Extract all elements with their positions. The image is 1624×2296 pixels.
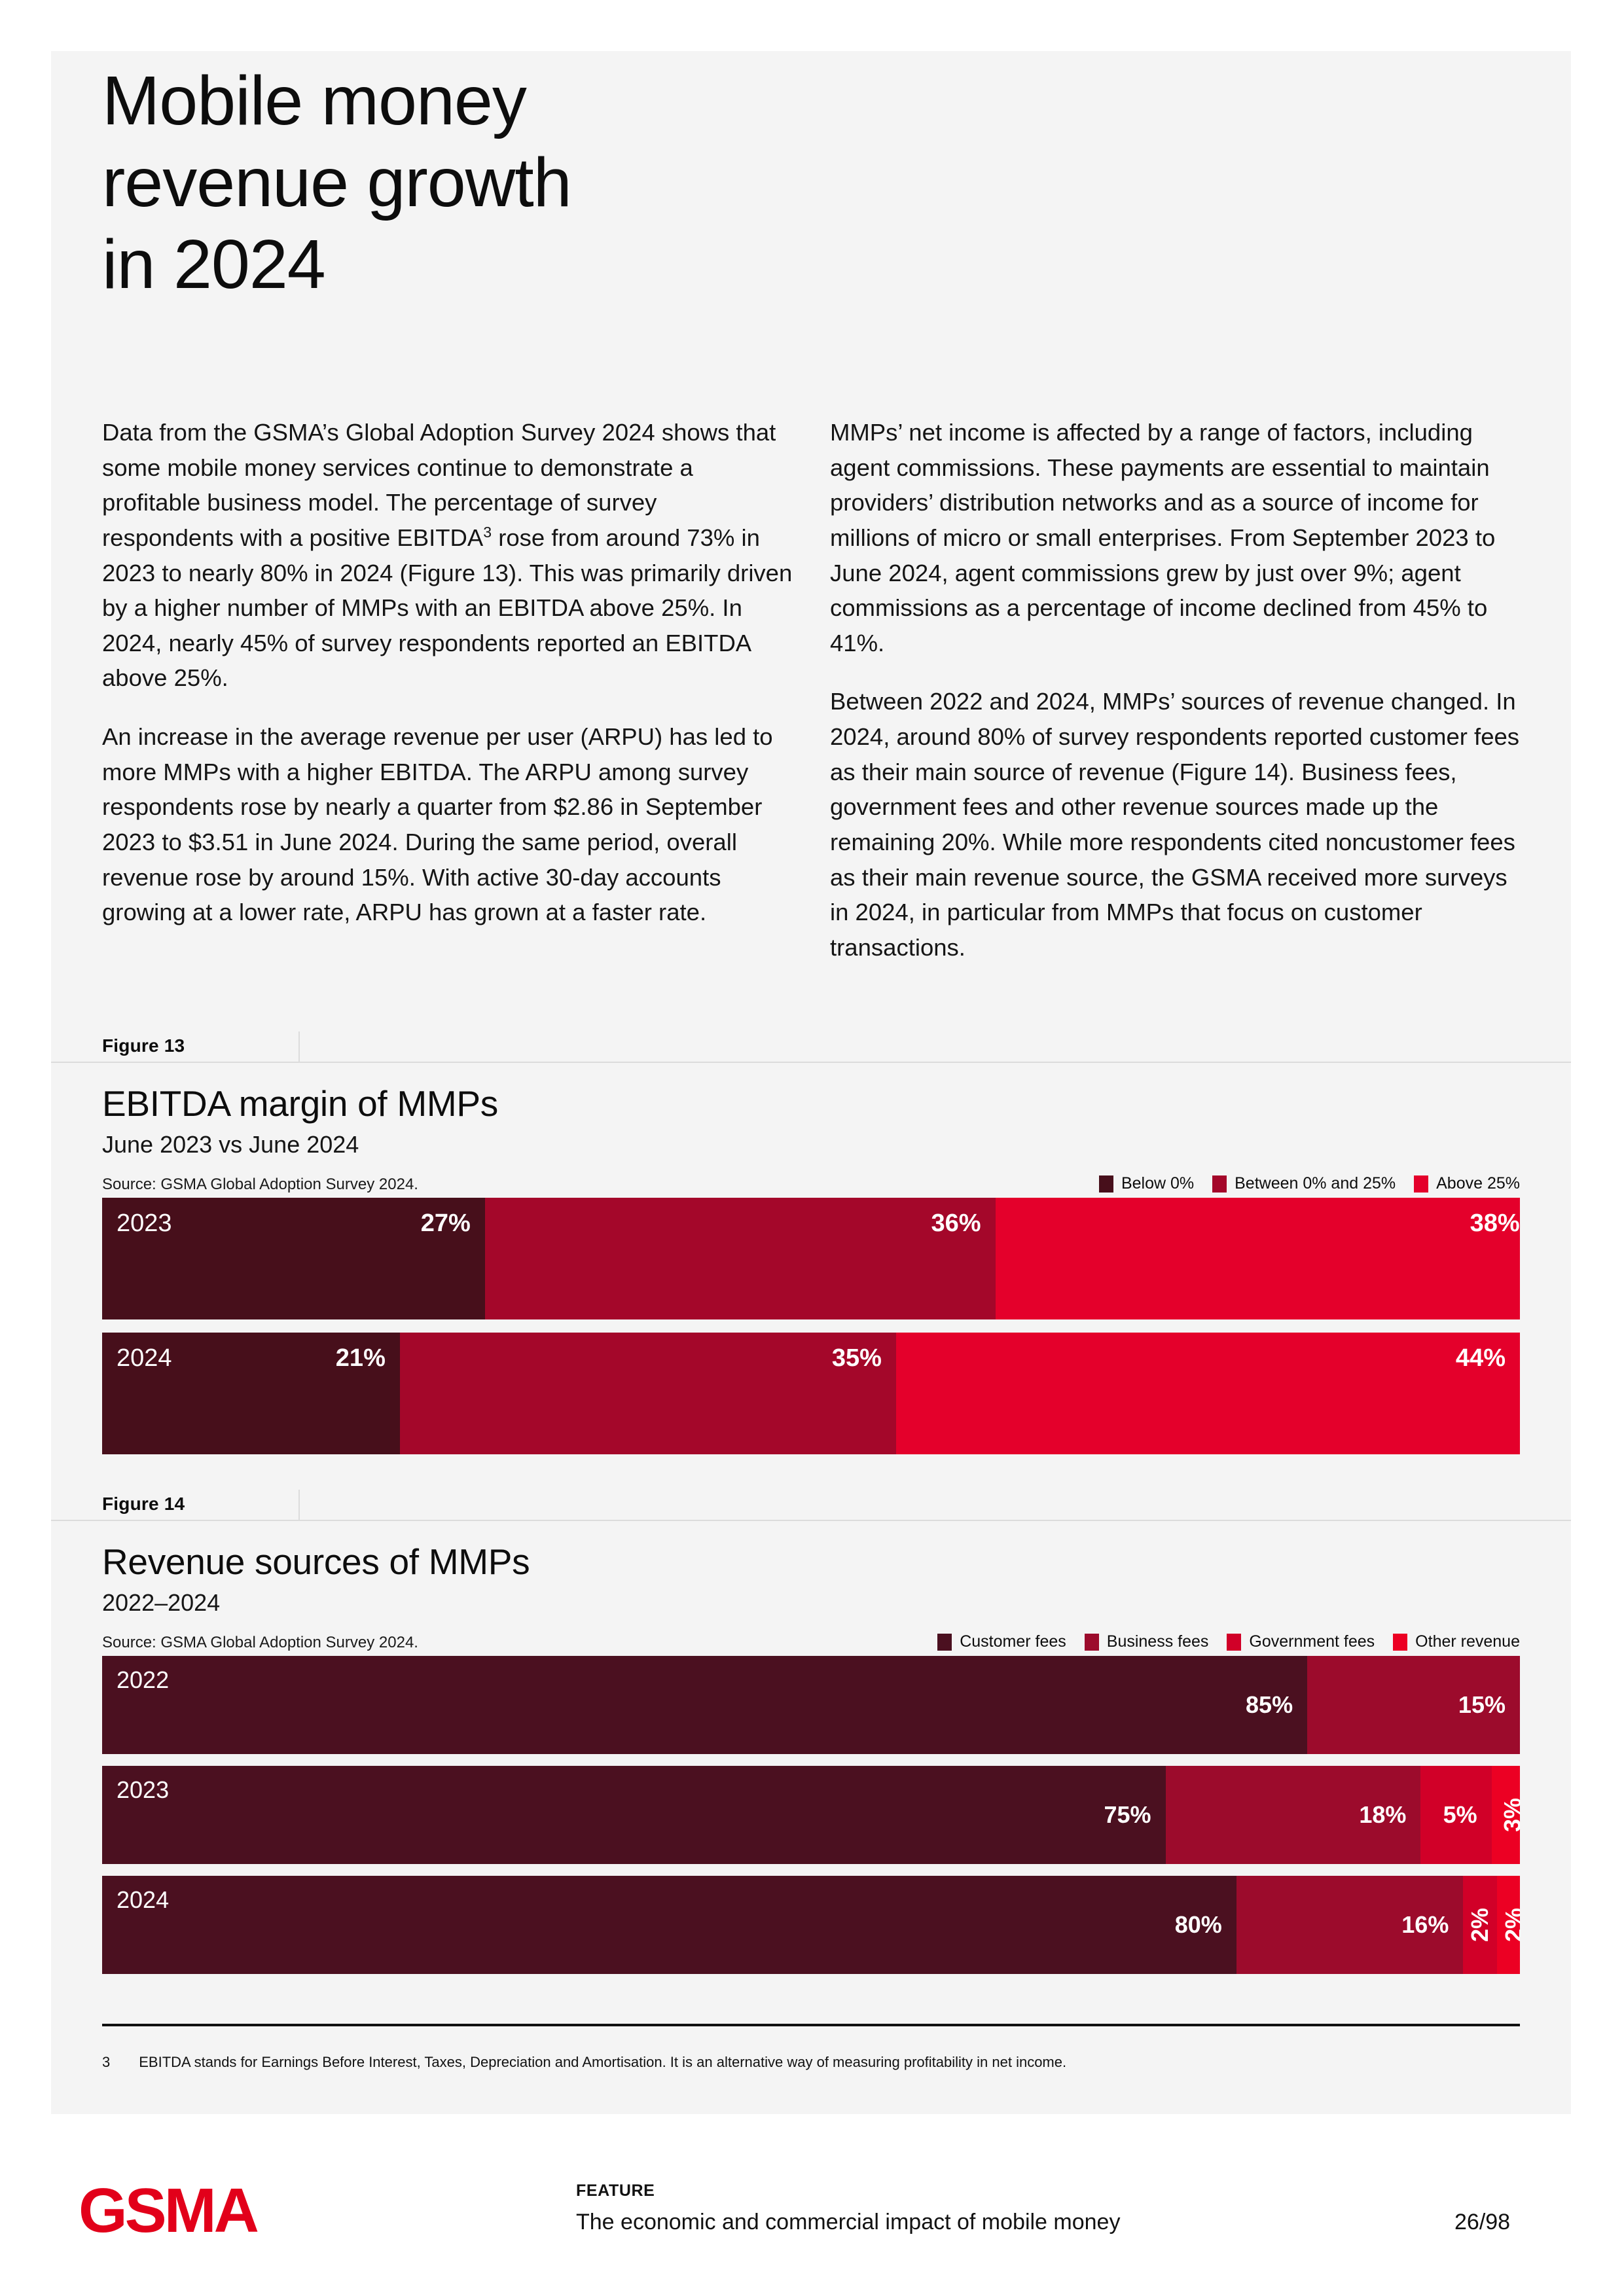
legend-label: Customer fees — [960, 1632, 1066, 1651]
legend-label: Government fees — [1249, 1632, 1375, 1651]
legend-label: Below 0% — [1121, 1174, 1194, 1193]
bar-segment-value: 44% — [1456, 1344, 1506, 1372]
paragraph-left-1: Data from the GSMA’s Global Adoption Sur… — [102, 415, 793, 696]
bar-segment-1: 18% — [1166, 1766, 1421, 1864]
legend-item-2: Government fees — [1227, 1632, 1375, 1651]
bar-segment-value: 16% — [1401, 1911, 1449, 1939]
bar-row-label: 2023 — [117, 1210, 172, 1238]
paragraph-left-2: An increase in the average revenue per u… — [102, 719, 793, 930]
figure-13-legend: Below 0%Between 0% and 25%Above 25% — [1099, 1174, 1520, 1193]
bar-row-label: 2024 — [117, 1344, 172, 1372]
legend-item-1: Business fees — [1085, 1632, 1209, 1651]
bar-row-label: 2022 — [117, 1666, 169, 1694]
bar-segment-value: 75% — [1104, 1801, 1151, 1829]
bar-segment-2: 44% — [896, 1333, 1520, 1454]
bar-row: 75%18%5%3%2023 — [102, 1766, 1520, 1864]
bar-segment-0: 75% — [102, 1766, 1166, 1864]
figure-14: Figure 14 Revenue sources of MMPs 2022–2… — [51, 1490, 1571, 2020]
figure-13-source: Source: GSMA Global Adoption Survey 2024… — [102, 1175, 418, 1194]
page-title: Mobile money revenue growth in 2024 — [102, 60, 953, 306]
footnote-divider — [102, 2024, 1520, 2026]
figure-13: Figure 13 EBITDA margin of MMPs June 202… — [51, 1031, 1571, 1474]
legend-item-3: Other revenue — [1393, 1632, 1520, 1651]
bar-segment-1: 16% — [1236, 1876, 1464, 1974]
paragraph-right-1: MMPs’ net income is affected by a range … — [830, 415, 1521, 660]
bar-segment-0: 85% — [102, 1656, 1307, 1754]
figure-13-subtitle: June 2023 vs June 2024 — [102, 1131, 359, 1158]
figure-13-label: Figure 13 — [102, 1035, 185, 1056]
figure-13-rule — [300, 1062, 1571, 1063]
bar-segment-2: 2% — [1463, 1876, 1497, 1974]
footnote: 3 EBITDA stands for Earnings Before Inte… — [102, 2054, 1066, 2071]
footnote-text: EBITDA stands for Earnings Before Intere… — [139, 2054, 1066, 2071]
footnote-number: 3 — [102, 2054, 110, 2071]
legend-swatch-icon — [1212, 1175, 1227, 1193]
legend-label: Above 25% — [1436, 1174, 1520, 1193]
legend-item-2: Above 25% — [1414, 1174, 1520, 1193]
legend-label: Between 0% and 25% — [1235, 1174, 1396, 1193]
bar-segment-value: 15% — [1458, 1691, 1506, 1719]
body-column-left: Data from the GSMA’s Global Adoption Sur… — [102, 415, 793, 930]
legend-swatch-icon — [1085, 1634, 1099, 1651]
page-title-line-2: revenue growth — [102, 144, 571, 221]
bar-segment-value: 2% — [1500, 1908, 1520, 1942]
bar-segment-value: 36% — [931, 1210, 981, 1238]
figure-13-bars: 27%36%38%202321%35%44%2024 — [102, 1198, 1520, 1454]
legend-swatch-icon — [1099, 1175, 1113, 1193]
figure-13-title: EBITDA margin of MMPs — [102, 1083, 498, 1124]
bar-segment-3: 3% — [1492, 1766, 1520, 1864]
bar-segment-1: 15% — [1307, 1656, 1520, 1754]
legend-swatch-icon — [1393, 1634, 1407, 1651]
footer-page-number: 26/98 — [1454, 2210, 1510, 2235]
bar-row-label: 2024 — [117, 1886, 169, 1914]
figure-14-label: Figure 14 — [102, 1494, 185, 1515]
bar-segment-value: 3% — [1499, 1798, 1520, 1832]
figure-14-bars: 85%15%202275%18%5%3%202380%16%2%2%2024 — [102, 1656, 1520, 1974]
legend-swatch-icon — [1414, 1175, 1428, 1193]
bar-segment-1: 35% — [400, 1333, 896, 1454]
bar-row-label: 2023 — [117, 1776, 169, 1804]
bar-segment-3: 2% — [1497, 1876, 1520, 1974]
bar-segment-2: 38% — [996, 1198, 1520, 1319]
bar-row: 27%36%38%2023 — [102, 1198, 1520, 1319]
bar-segment-value: 2% — [1466, 1908, 1494, 1942]
bar-segment-2: 5% — [1420, 1766, 1491, 1864]
bar-segment-value: 18% — [1359, 1801, 1406, 1829]
figure-14-rule — [300, 1520, 1571, 1521]
footer-title: The economic and commercial impact of mo… — [576, 2210, 1120, 2235]
bar-row: 80%16%2%2%2024 — [102, 1876, 1520, 1974]
legend-swatch-icon — [937, 1634, 952, 1651]
legend-item-0: Below 0% — [1099, 1174, 1194, 1193]
bar-segment-value: 85% — [1246, 1691, 1293, 1719]
footer-kicker: FEATURE — [576, 2181, 655, 2200]
page-root: Mobile money revenue growth in 2024 Data… — [0, 0, 1624, 2296]
paragraph-right-2: Between 2022 and 2024, MMPs’ sources of … — [830, 684, 1521, 965]
figure-14-title: Revenue sources of MMPs — [102, 1541, 530, 1583]
bar-segment-value: 38% — [1470, 1210, 1520, 1238]
legend-label: Business fees — [1107, 1632, 1209, 1651]
bar-segment-0: 80% — [102, 1876, 1236, 1974]
figure-14-source: Source: GSMA Global Adoption Survey 2024… — [102, 1634, 418, 1652]
bar-segment-value: 21% — [336, 1344, 386, 1372]
figure-14-legend: Customer feesBusiness feesGovernment fee… — [937, 1632, 1520, 1651]
bar-segment-value: 35% — [832, 1344, 882, 1372]
legend-item-1: Between 0% and 25% — [1212, 1174, 1396, 1193]
gsma-logo: GSMA — [79, 2179, 257, 2242]
bar-row: 21%35%44%2024 — [102, 1333, 1520, 1454]
bar-segment-1: 36% — [485, 1198, 996, 1319]
legend-item-0: Customer fees — [937, 1632, 1066, 1651]
page-title-line-3: in 2024 — [102, 226, 325, 303]
legend-swatch-icon — [1227, 1634, 1241, 1651]
footnote-marker-3: 3 — [483, 524, 492, 541]
bar-segment-value: 27% — [421, 1210, 471, 1238]
bar-segment-value: 5% — [1443, 1801, 1477, 1829]
figure-14-subtitle: 2022–2024 — [102, 1589, 220, 1617]
bar-row: 85%15%2022 — [102, 1656, 1520, 1754]
page-title-line-1: Mobile money — [102, 62, 526, 139]
body-column-right: MMPs’ net income is affected by a range … — [830, 415, 1521, 965]
legend-label: Other revenue — [1415, 1632, 1520, 1651]
bar-segment-value: 80% — [1175, 1911, 1222, 1939]
